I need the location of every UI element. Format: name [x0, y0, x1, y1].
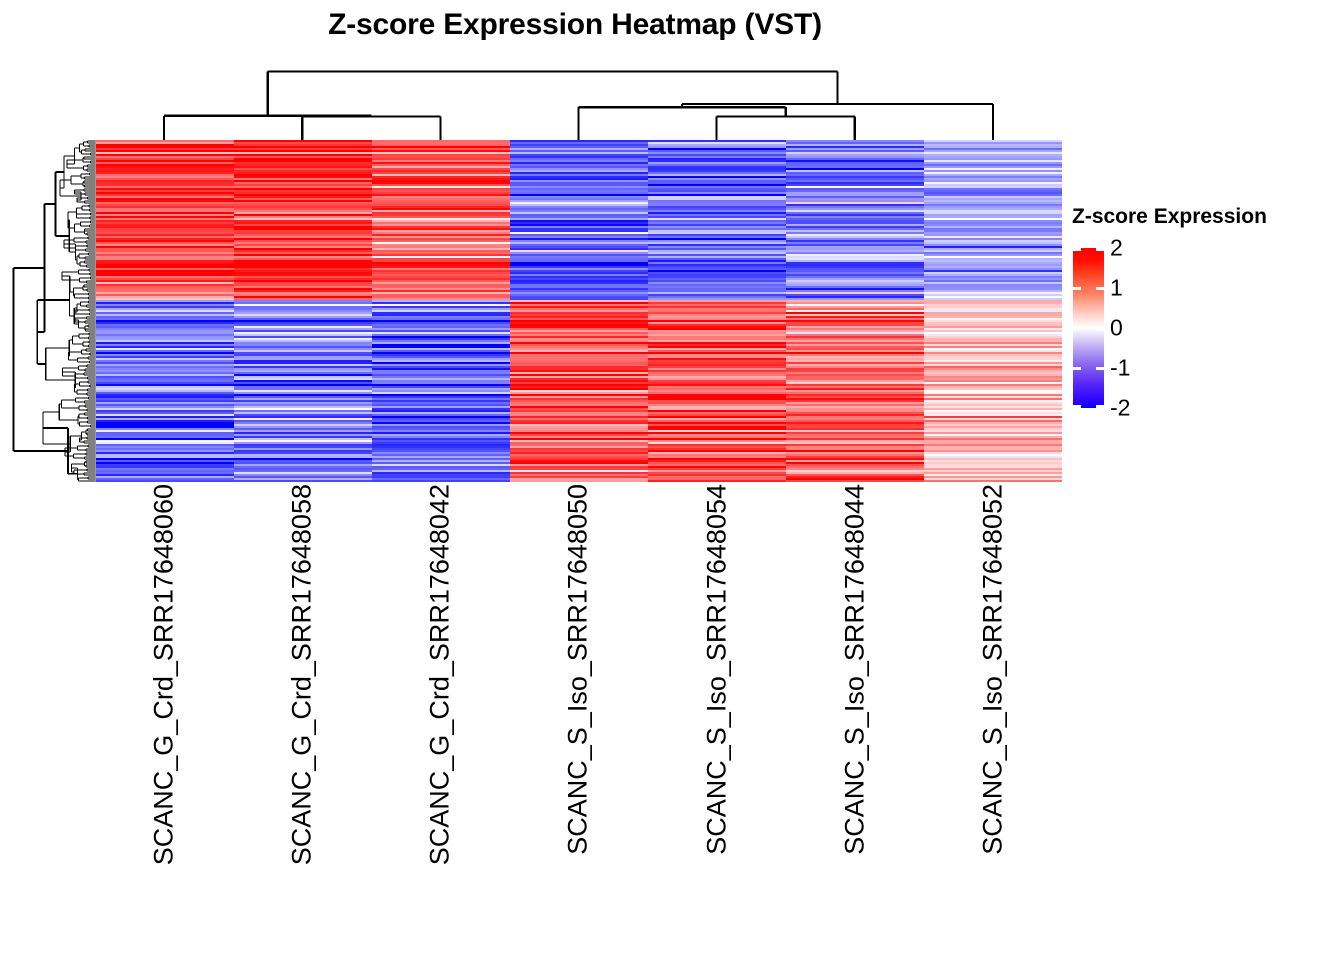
column-label-cell: SCANC_S_Iso_SRR17648050 [509, 484, 647, 924]
column-label: SCANC_G_Crd_SRR17648060 [149, 484, 180, 865]
colorbar-tick [1096, 287, 1104, 290]
column-label: SCANC_S_Iso_SRR17648050 [563, 484, 594, 855]
column-label-cell: SCANC_S_Iso_SRR17648054 [648, 484, 786, 924]
colorbar-tick-label: 2 [1110, 235, 1123, 262]
colorbar-tick [1096, 367, 1104, 370]
heatmap-cell [234, 480, 372, 482]
colorbar-tick-label: 1 [1110, 275, 1123, 302]
colorbar-tick-label: 0 [1110, 315, 1123, 342]
heatmap-figure: Z-score Expression Heatmap (VST) SCANC_G… [0, 0, 1344, 960]
column-label-cell: SCANC_G_Crd_SRR17648060 [95, 484, 233, 924]
column-labels: SCANC_G_Crd_SRR17648060SCANC_G_Crd_SRR17… [95, 484, 1062, 924]
heatmap-column[interactable] [510, 140, 648, 482]
heatmap-column[interactable] [234, 140, 372, 482]
colorbar-tick [1096, 405, 1104, 408]
colorbar-tick [1073, 327, 1081, 330]
heatmap-cell [648, 480, 786, 482]
column-label-cell: SCANC_S_Iso_SRR17648044 [786, 484, 924, 924]
heatmap-column[interactable] [648, 140, 786, 482]
colorbar-title: Z-score Expression [1072, 205, 1267, 229]
heatmap-column[interactable] [786, 140, 924, 482]
column-dendrogram [95, 58, 1062, 140]
colorbar-tick [1073, 287, 1081, 290]
colorbar-tick [1096, 248, 1104, 251]
heatmap-column[interactable] [372, 140, 510, 482]
heatmap-column[interactable] [924, 140, 1062, 482]
colorbar-tick [1073, 367, 1081, 370]
column-label-cell: SCANC_S_Iso_SRR17648052 [924, 484, 1062, 924]
colorbar-tick [1073, 405, 1081, 408]
column-label: SCANC_G_Crd_SRR17648042 [425, 484, 456, 865]
column-label: SCANC_S_Iso_SRR17648052 [977, 484, 1008, 855]
column-label: SCANC_S_Iso_SRR17648054 [701, 484, 732, 855]
colorbar-tick-label: -1 [1110, 355, 1130, 382]
column-label-cell: SCANC_G_Crd_SRR17648042 [371, 484, 509, 924]
heatmap-cell [96, 480, 234, 482]
column-label: SCANC_G_Crd_SRR17648058 [287, 484, 318, 865]
colorbar-tick-label: -2 [1110, 395, 1130, 422]
colorbar-tick [1073, 248, 1081, 251]
column-label-cell: SCANC_G_Crd_SRR17648058 [233, 484, 371, 924]
heatmap-column[interactable] [96, 140, 234, 482]
heatmap-cell [510, 480, 648, 482]
colorbar-legend: Z-score Expression 210-1-2 [1070, 205, 1340, 420]
row-dendrogram [8, 140, 95, 482]
heatmap-body[interactable] [95, 140, 1062, 482]
page-title: Z-score Expression Heatmap (VST) [0, 8, 1150, 42]
colorbar-wrap [1073, 248, 1104, 408]
colorbar-tick [1096, 327, 1104, 330]
heatmap-cell [924, 480, 1062, 482]
heatmap-cell [786, 480, 924, 482]
heatmap-cell [372, 480, 510, 482]
column-label: SCANC_S_Iso_SRR17648044 [839, 484, 870, 855]
